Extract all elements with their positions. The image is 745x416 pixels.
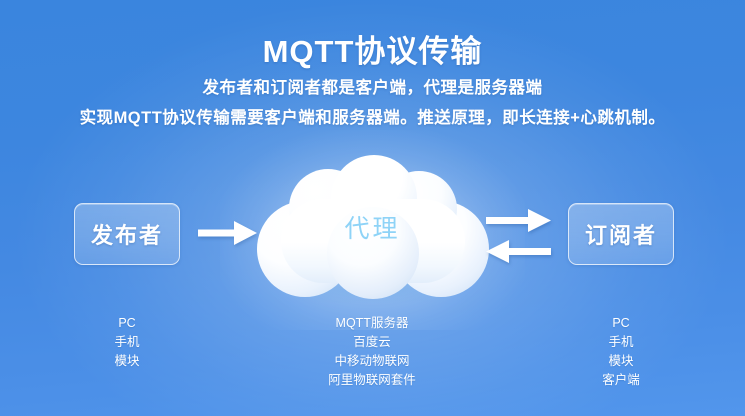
list-item: 中移动物联网 bbox=[272, 352, 472, 371]
arrow-right-icon bbox=[486, 209, 552, 238]
publisher-node-label: 发布者 bbox=[91, 218, 163, 250]
list-item: MQTT服务器 bbox=[272, 314, 472, 333]
list-item: 模块 bbox=[77, 352, 177, 371]
list-item: PC bbox=[77, 314, 177, 333]
list-item: 模块 bbox=[570, 352, 672, 371]
broker-cloud-label: 代理 bbox=[255, 209, 490, 245]
arrow-right-icon bbox=[198, 220, 258, 251]
publisher-node-box: 发布者 bbox=[74, 203, 180, 265]
list-item: 阿里物联网套件 bbox=[272, 371, 472, 390]
mqtt-diagram-slide: MQTT协议传输 发布者和订阅者都是客户端，代理是服务器端 实现MQTT协议传输… bbox=[0, 0, 745, 416]
broker-examples-column: MQTT服务器 百度云 中移动物联网 阿里物联网套件 bbox=[272, 314, 472, 390]
list-item: PC bbox=[570, 314, 672, 333]
subtitle-line-2: 实现MQTT协议传输需要客户端和服务器端。推送原理，即长连接+心跳机制。 bbox=[0, 104, 745, 128]
subscriber-examples-column: PC 手机 模块 客户端 bbox=[570, 314, 672, 390]
list-item: 手机 bbox=[77, 333, 177, 352]
subscriber-node-box: 订阅者 bbox=[568, 203, 674, 265]
page-title: MQTT协议传输 bbox=[0, 26, 745, 71]
publisher-examples-column: PC 手机 模块 bbox=[77, 314, 177, 371]
list-item: 手机 bbox=[570, 333, 672, 352]
list-item: 百度云 bbox=[272, 333, 472, 352]
arrow-left-icon bbox=[486, 240, 552, 269]
list-item: 客户端 bbox=[570, 371, 672, 390]
broker-cloud: 代理 bbox=[255, 155, 490, 300]
subtitle-line-1: 发布者和订阅者都是客户端，代理是服务器端 bbox=[0, 74, 745, 98]
subscriber-node-label: 订阅者 bbox=[585, 218, 657, 250]
